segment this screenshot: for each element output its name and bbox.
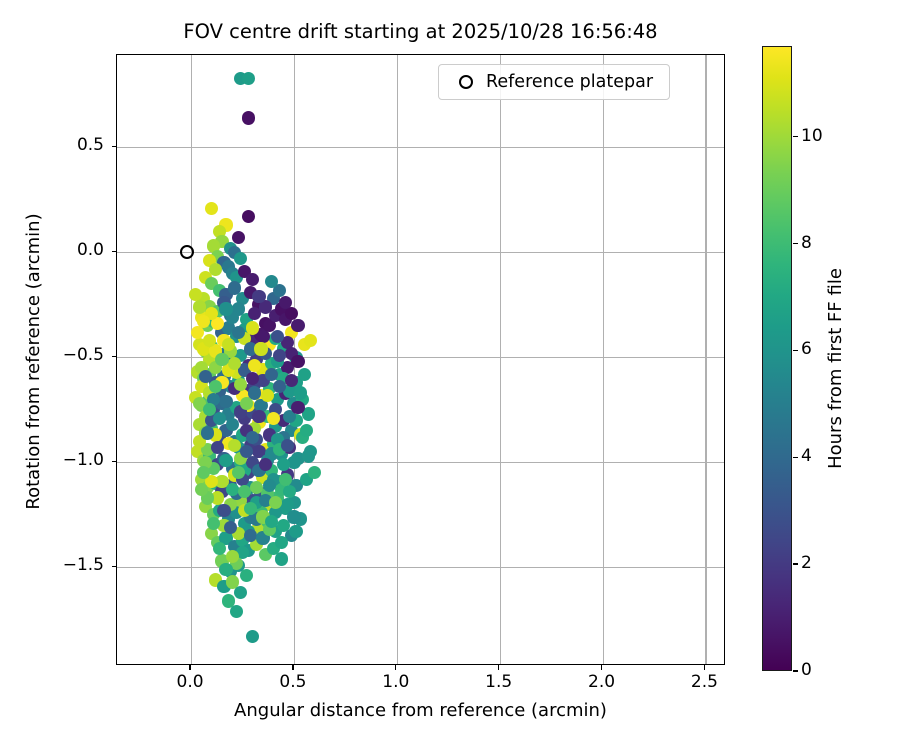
colorbar [762, 46, 792, 671]
scatter-point [254, 342, 267, 355]
scatter-point [261, 389, 274, 402]
scatter-point [308, 466, 321, 479]
y-axis-label: Rotation from reference (arcmin) [23, 56, 44, 667]
scatter-point [281, 498, 294, 511]
scatter-point [228, 357, 241, 370]
scatter-point [224, 521, 237, 534]
colorbar-tick-mark [793, 457, 798, 458]
y-tick-mark [112, 566, 117, 567]
legend-open-circle-icon [459, 75, 473, 89]
x-axis-label: Angular distance from reference (arcmin) [116, 700, 725, 721]
gridline-vertical [191, 55, 192, 664]
scatter-point [234, 252, 247, 265]
scatter-point [259, 458, 272, 471]
scatter-point [205, 202, 218, 215]
scatter-point [226, 418, 239, 431]
scatter-point [265, 368, 278, 381]
scatter-point [294, 386, 307, 399]
colorbar-tick-label: 10 [801, 126, 823, 146]
scatter-point [265, 515, 278, 528]
scatter-point [242, 210, 255, 223]
colorbar-tick-label: 0 [801, 660, 812, 680]
x-tick-label: 2.5 [669, 672, 739, 692]
colorbar-tick-label: 8 [801, 233, 812, 253]
scatter-point [193, 300, 206, 313]
colorbar-gradient [763, 47, 791, 670]
x-tick-mark [189, 665, 190, 670]
scatter-point [222, 338, 235, 351]
x-tick-label: 0.5 [258, 672, 328, 692]
scatter-point [246, 273, 259, 286]
y-tick-mark [112, 356, 117, 357]
scatter-point [201, 426, 214, 439]
scatter-point [230, 605, 243, 618]
scatter-point [300, 424, 313, 437]
x-tick-mark [704, 665, 705, 670]
scatter-point [289, 525, 302, 538]
x-tick-mark [292, 665, 293, 670]
scatter-point [207, 517, 220, 530]
colorbar-tick-mark [793, 350, 798, 351]
scatter-point [232, 326, 245, 339]
gridline-vertical [705, 55, 706, 664]
x-tick-mark [601, 665, 602, 670]
scatter-point [298, 368, 311, 381]
gridline-horizontal [117, 567, 724, 568]
gridline-vertical [397, 55, 398, 664]
scatter-point [275, 552, 288, 565]
colorbar-tick-label: 6 [801, 339, 812, 359]
colorbar-tick-mark [793, 670, 798, 671]
scatter-point [234, 586, 247, 599]
gridline-horizontal [117, 147, 724, 148]
gridline-vertical [500, 55, 501, 664]
scatter-point [275, 536, 288, 549]
x-tick-label: 1.5 [464, 672, 534, 692]
scatter-point [246, 630, 259, 643]
colorbar-tick-label: 2 [801, 553, 812, 573]
colorbar-tick-mark [793, 136, 798, 137]
scatter-point [195, 483, 208, 496]
gridline-vertical [603, 55, 604, 664]
colorbar-tick-mark [793, 243, 798, 244]
scatter-point [279, 473, 292, 486]
scatter-point [226, 483, 239, 496]
scatter-point [217, 504, 230, 517]
x-tick-label: 2.0 [567, 672, 637, 692]
y-tick-mark [112, 251, 117, 252]
scatter-point [271, 330, 284, 343]
scatter-point [213, 542, 226, 555]
plot-area [116, 54, 725, 665]
scatter-point [246, 431, 259, 444]
scatter-point [269, 496, 282, 509]
scatter-point [291, 319, 304, 332]
scatter-point [267, 412, 280, 425]
colorbar-tick-mark [793, 563, 798, 564]
figure-canvas: FOV centre drift starting at 2025/10/28 … [0, 0, 900, 750]
scatter-point [252, 290, 265, 303]
x-tick-label: 1.0 [361, 672, 431, 692]
scatter-point [215, 353, 228, 366]
x-tick-label: 0.0 [155, 672, 225, 692]
scatter-point [304, 334, 317, 347]
page-title: FOV centre drift starting at 2025/10/28 … [116, 20, 725, 43]
scatter-point [219, 302, 232, 315]
legend-entry-label: Reference platepar [486, 72, 653, 92]
x-tick-mark [498, 665, 499, 670]
colorbar-label: Hours from first FF file [825, 56, 846, 681]
scatter-point [213, 412, 226, 425]
x-tick-mark [395, 665, 396, 670]
scatter-point [291, 401, 304, 414]
scatter-point [189, 288, 202, 301]
legend: Reference platepar [438, 64, 670, 100]
scatter-point [252, 410, 265, 423]
scatter-point [240, 569, 253, 582]
scatter-point [302, 449, 315, 462]
scatter-point [242, 111, 255, 124]
colorbar-tick-label: 4 [801, 446, 812, 466]
y-tick-mark [112, 461, 117, 462]
scatter-point [263, 479, 276, 492]
y-tick-mark [112, 146, 117, 147]
scatter-point [287, 510, 300, 523]
scatter-point [228, 439, 241, 452]
scatter-point [242, 72, 255, 85]
scatter-point [291, 355, 304, 368]
scatter-point [219, 454, 232, 467]
scatter-point [273, 349, 286, 362]
scatter-point [219, 563, 232, 576]
scatter-point [219, 395, 232, 408]
